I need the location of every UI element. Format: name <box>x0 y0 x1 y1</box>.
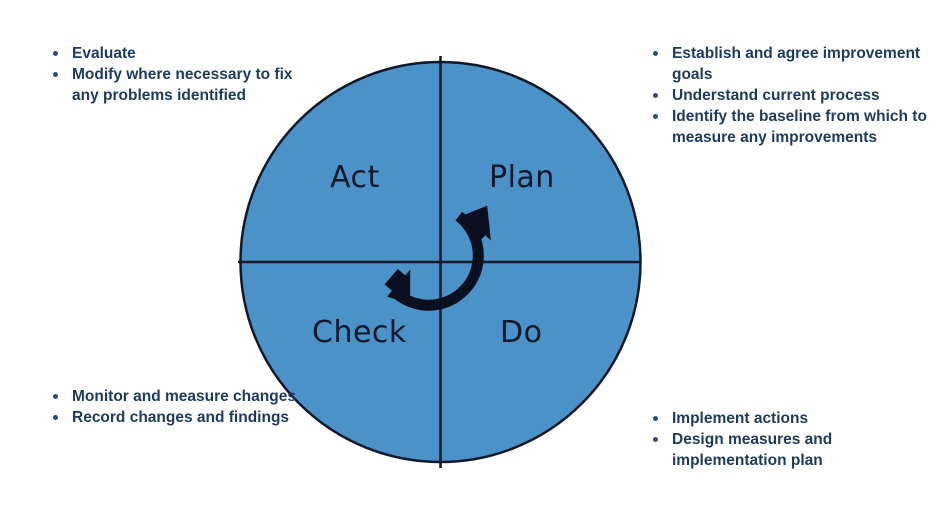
note-text: Understand current process <box>672 87 880 104</box>
list-item: Identify the baseline from which to meas… <box>650 106 932 148</box>
list-item: Implement actions <box>650 408 932 429</box>
list-item: Evaluate <box>50 43 310 64</box>
quadrant-label-do: Do <box>500 315 542 350</box>
bullet-icon <box>653 114 658 119</box>
note-text: Identify the baseline from which to meas… <box>672 108 927 146</box>
bullet-icon <box>53 51 58 56</box>
note-list-do: Implement actions Design measures and im… <box>650 408 932 471</box>
bullet-icon <box>653 93 658 98</box>
quadrant-label-plan: Plan <box>489 160 555 195</box>
quadrant-label-act: Act <box>330 160 380 195</box>
note-list-act: Evaluate Modify where necessary to fix a… <box>50 43 310 106</box>
note-block-do: Implement actions Design measures and im… <box>650 408 932 471</box>
bullet-icon <box>53 415 58 420</box>
note-block-plan: Establish and agree improvement goals Un… <box>650 43 932 148</box>
list-item: Modify where necessary to fix any proble… <box>50 64 310 106</box>
list-item: Record changes and findings <box>50 407 310 428</box>
note-text: Implement actions <box>672 410 808 427</box>
note-text: Design measures and implementation plan <box>672 431 832 469</box>
note-list-plan: Establish and agree improvement goals Un… <box>650 43 932 148</box>
list-item: Establish and agree improvement goals <box>650 43 932 85</box>
bullet-icon <box>653 51 658 56</box>
note-block-act: Evaluate Modify where necessary to fix a… <box>50 43 310 106</box>
note-text: Record changes and findings <box>72 409 289 426</box>
bullet-icon <box>53 394 58 399</box>
bullet-icon <box>653 437 658 442</box>
note-text: Evaluate <box>72 45 136 62</box>
note-block-check: Monitor and measure changes Record chang… <box>50 386 310 428</box>
note-list-check: Monitor and measure changes Record chang… <box>50 386 310 428</box>
note-text: Modify where necessary to fix any proble… <box>72 66 293 104</box>
list-item: Understand current process <box>650 85 932 106</box>
note-text: Monitor and measure changes <box>72 388 296 405</box>
bullet-icon <box>653 416 658 421</box>
bullet-icon <box>53 72 58 77</box>
list-item: Design measures and implementation plan <box>650 429 932 471</box>
quadrant-label-check: Check <box>312 315 407 350</box>
list-item: Monitor and measure changes <box>50 386 310 407</box>
diagram-canvas: Act Plan Check Do Evaluate Modify where … <box>0 0 941 520</box>
note-text: Establish and agree improvement goals <box>672 45 920 83</box>
